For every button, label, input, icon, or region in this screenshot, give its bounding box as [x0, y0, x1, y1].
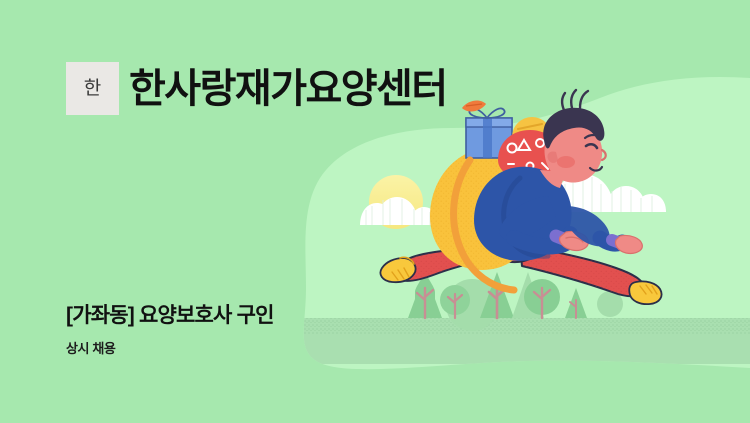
gift-sack [430, 148, 534, 270]
gift-ball-red [498, 130, 560, 180]
runner-head [543, 90, 606, 183]
job-status-badge: 상시 채용 [66, 341, 274, 357]
tree-row [408, 272, 623, 331]
back-shoe [380, 257, 415, 282]
runner-figure [380, 90, 661, 304]
company-logo-badge: 한 [66, 62, 119, 115]
company-name: 한사랑재가요양센터 [129, 69, 447, 109]
job-summary: [가좌동] 요양보호사 구인 상시 채용 [66, 303, 274, 357]
company-header: 한 한사랑재가요양센터 [66, 62, 447, 115]
gift-candy [462, 101, 486, 112]
gift-items [462, 101, 560, 180]
gift-ball-yellow [512, 117, 552, 157]
job-title: [가좌동] 요양보호사 구인 [66, 303, 274, 329]
near-hand [560, 231, 589, 250]
gift-box-blue [466, 108, 512, 158]
job-posting-card: 한 한사랑재가요양센터 [가좌동] 요양보호사 구인 상시 채용 [0, 0, 750, 423]
far-hand [615, 235, 642, 253]
front-shoe [629, 281, 661, 304]
